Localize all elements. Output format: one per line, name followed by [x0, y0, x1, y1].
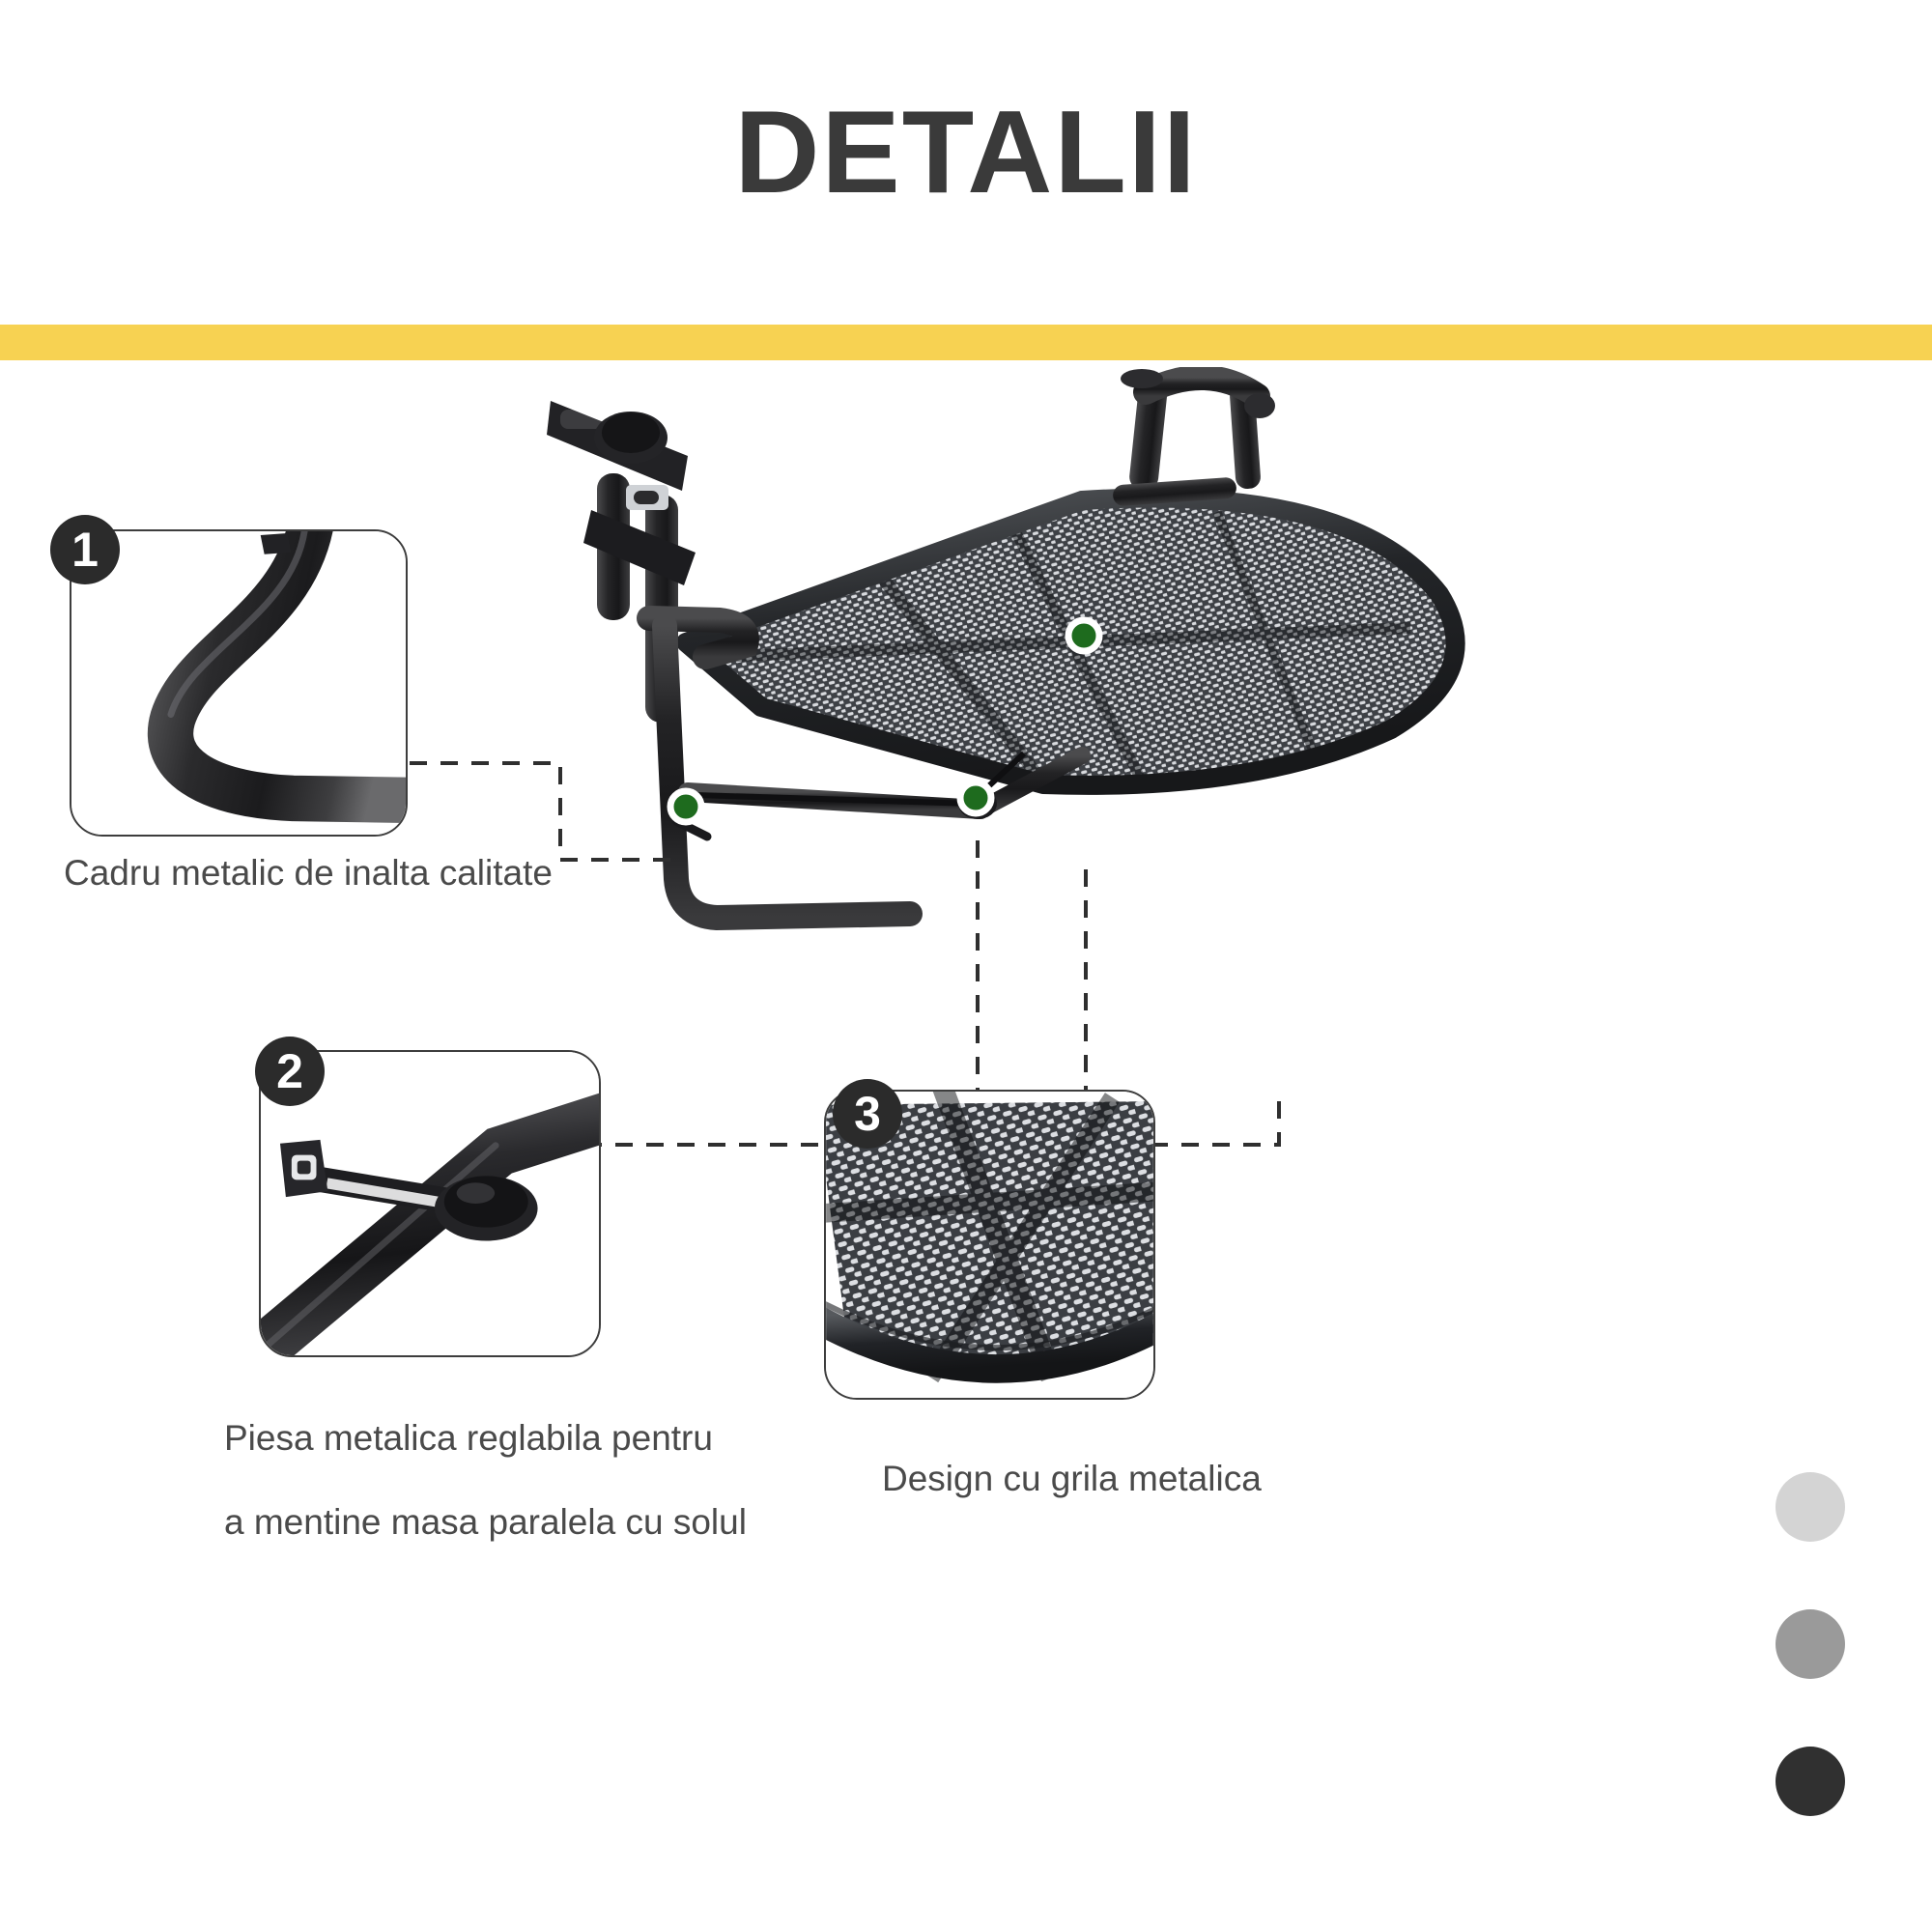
callout-badge-1: 1	[50, 515, 120, 584]
yellow-divider-rule	[0, 325, 1932, 360]
callout-caption-2-line2: a mentine masa paralela cu solul	[224, 1504, 747, 1540]
infographic-page: DETALII	[0, 0, 1932, 1932]
callout-caption-2-line1: Piesa metalica reglabila pentru	[224, 1420, 713, 1456]
adjuster-knob	[435, 1176, 538, 1240]
curved-metal-frame-photo	[71, 531, 406, 835]
product-illustration	[541, 367, 1932, 1101]
color-swatch-light-gray[interactable]	[1776, 1472, 1845, 1542]
callout-box-1	[70, 529, 408, 837]
callout-badge-2: 2	[255, 1037, 325, 1106]
callout-caption-1: Cadru metalic de inalta calitate	[64, 855, 553, 891]
color-swatch-charcoal[interactable]	[1776, 1747, 1845, 1816]
frame-joint-marker	[670, 791, 701, 822]
callout-badge-3: 3	[833, 1079, 902, 1149]
callout-caption-3: Design cu grila metalica	[882, 1461, 1262, 1496]
right-mounting-hook	[1112, 369, 1275, 506]
adjuster-marker	[960, 782, 991, 813]
page-title: DETALII	[0, 93, 1932, 211]
color-swatch-medium-gray[interactable]	[1776, 1609, 1845, 1679]
mesh-top-marker	[1068, 620, 1099, 651]
